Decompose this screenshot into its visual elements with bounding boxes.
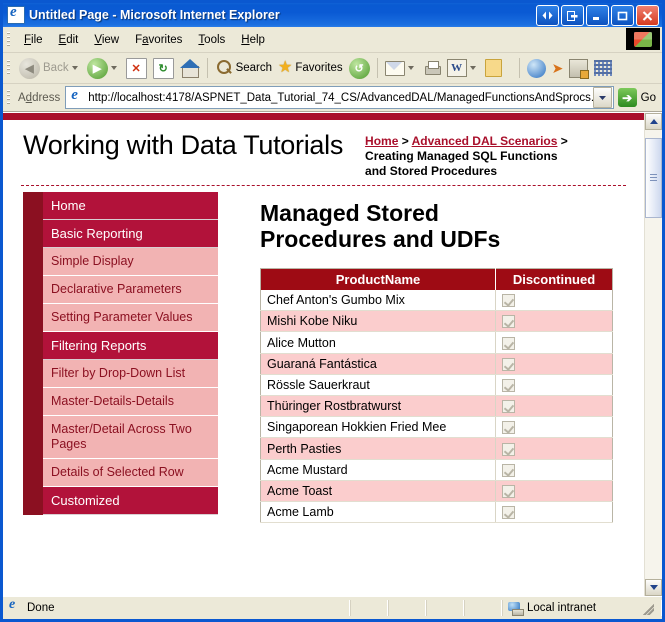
search-button[interactable]: Search: [212, 56, 275, 80]
cell-productname: Acme Lamb: [261, 502, 496, 523]
page-status-icon: [8, 601, 23, 615]
page-top-bar: [3, 113, 644, 120]
sidebar-item-master-details-details[interactable]: Master-Details-Details: [23, 388, 218, 416]
breadcrumb: Home > Advanced DAL Scenarios > Creating…: [365, 128, 580, 179]
nav-stripe: [23, 276, 43, 304]
page-viewport: Working with Data Tutorials Home > Advan…: [3, 112, 662, 596]
cell-discontinued: [496, 374, 613, 395]
nav-stripe: [23, 332, 43, 360]
table-header-row: ProductName Discontinued: [261, 269, 613, 291]
table-row[interactable]: Mishi Kobe Niku: [261, 311, 613, 332]
local-intranet-icon: [508, 601, 523, 615]
table-row[interactable]: Chef Anton's Gumbo Mix: [261, 290, 613, 311]
sidebar-item-customized[interactable]: Customized: [23, 487, 218, 515]
security-zone[interactable]: Local intranet: [502, 600, 662, 616]
checkbox-checked-disabled-icon: [502, 315, 515, 328]
mail-dropdown-caret-icon[interactable]: [408, 66, 414, 70]
table-row[interactable]: Acme Toast: [261, 480, 613, 501]
cell-productname: Thüringer Rostbratwurst: [261, 396, 496, 417]
back-icon: ◀: [19, 58, 40, 79]
edit-dropdown-caret-icon[interactable]: [470, 66, 476, 70]
cell-productname: Rössle Sauerkraut: [261, 374, 496, 395]
address-url-text: http://localhost:4178/ASPNET_Data_Tutori…: [88, 92, 592, 104]
sidebar-item-master-detail-across-two-pages[interactable]: Master/Detail Across Two Pages: [23, 416, 218, 459]
favorites-button[interactable]: ★ Favorites: [275, 56, 346, 80]
sidebar-item-label: Basic Reporting: [43, 220, 218, 248]
cell-productname: Chef Anton's Gumbo Mix: [261, 290, 496, 311]
maximize-button[interactable]: [611, 5, 634, 26]
table-row[interactable]: Thüringer Rostbratwurst: [261, 396, 613, 417]
sidebar-item-label: Filter by Drop-Down List: [43, 360, 218, 388]
status-pane-4: [464, 600, 502, 616]
cell-productname: Mishi Kobe Niku: [261, 311, 496, 332]
history-icon: ↺: [349, 58, 370, 79]
toolbar-separator-2: [377, 58, 378, 78]
notes-button[interactable]: [482, 56, 505, 80]
checkbox-checked-disabled-icon: [502, 294, 515, 307]
go-button[interactable]: ➔ Go: [614, 88, 662, 107]
sidebar-item-label: Filtering Reports: [43, 332, 218, 360]
address-dropdown-button[interactable]: [593, 87, 612, 108]
toolbar-drag-grip[interactable]: [5, 59, 13, 77]
status-pane-3: [426, 600, 464, 616]
sidebar-item-label: Master-Details-Details: [43, 388, 218, 416]
status-pane-2: [388, 600, 426, 616]
resize-grip[interactable]: [640, 601, 654, 615]
nav-stripe: [23, 220, 43, 248]
minimize-button[interactable]: [586, 5, 609, 26]
sidebar-nav: Home Basic Reporting Simple Display Decl…: [3, 192, 218, 515]
cell-discontinued: [496, 290, 613, 311]
address-label: Address: [18, 92, 60, 104]
stop-icon: ✕: [126, 58, 147, 79]
menu-view[interactable]: View: [86, 31, 127, 49]
forward-dropdown-caret-icon[interactable]: [111, 66, 117, 70]
menu-help[interactable]: Help: [233, 31, 273, 49]
edit-button[interactable]: W: [444, 56, 482, 80]
toolbar-separator-3: [519, 58, 520, 78]
encoding-icon: [594, 60, 612, 76]
favorites-star-icon: ★: [278, 60, 292, 76]
encoding-button[interactable]: [591, 56, 615, 80]
column-header-productname[interactable]: ProductName: [261, 269, 496, 291]
toolbar-separator: [207, 58, 208, 78]
column-header-discontinued[interactable]: Discontinued: [496, 269, 613, 291]
status-text: Done: [27, 602, 55, 614]
sidebar-item-filter-by-drop-down-list[interactable]: Filter by Drop-Down List: [23, 360, 218, 388]
cell-productname: Alice Mutton: [261, 332, 496, 353]
cell-productname: Singaporean Hokkien Fried Mee: [261, 417, 496, 438]
table-row[interactable]: Acme Mustard: [261, 459, 613, 480]
back-label: Back: [43, 62, 69, 74]
page-masthead: Working with Data Tutorials Home > Advan…: [3, 120, 644, 179]
sidebar-item-filtering-reports[interactable]: Filtering Reports: [23, 332, 218, 360]
checkbox-checked-disabled-icon: [502, 421, 515, 434]
nav-stripe: [23, 487, 43, 515]
page-vertical-scrollbar[interactable]: [644, 113, 662, 596]
cell-productname: Acme Toast: [261, 480, 496, 501]
main-content: Managed Stored Procedures and UDFs Produ…: [218, 186, 644, 523]
page-title: Managed Stored Procedures and UDFs: [260, 200, 520, 252]
sidebar-item-simple-display[interactable]: Simple Display: [23, 248, 218, 276]
cell-discontinued: [496, 396, 613, 417]
nav-stripe: [23, 388, 43, 416]
checkbox-checked-disabled-icon: [502, 400, 515, 413]
checkbox-checked-disabled-icon: [502, 443, 515, 456]
cell-discontinued: [496, 353, 613, 374]
cell-discontinued: [496, 480, 613, 501]
home-icon: [180, 59, 200, 77]
page-icon: [69, 90, 85, 106]
nav-stripe: [23, 192, 43, 220]
go-label: Go: [641, 92, 656, 104]
breadcrumb-sep-2: >: [557, 134, 567, 148]
products-gridview: ProductName Discontinued Chef Anton's Gu…: [260, 268, 613, 523]
checkbox-checked-disabled-icon: [502, 379, 515, 392]
back-dropdown-caret-icon[interactable]: [72, 66, 78, 70]
messenger-globe-icon: [527, 59, 546, 78]
search-label: Search: [236, 62, 272, 74]
sidebar-item-label: Simple Display: [43, 248, 218, 276]
cell-discontinued: [496, 438, 613, 459]
back-button[interactable]: ◀ Back: [16, 56, 84, 80]
cell-productname: Perth Pasties: [261, 438, 496, 459]
cell-discontinued: [496, 417, 613, 438]
menu-favorites[interactable]: Favorites: [127, 31, 190, 49]
cell-discontinued: [496, 311, 613, 332]
history-button[interactable]: ↺: [346, 56, 373, 80]
breadcrumb-current: Creating Managed SQL Functions and Store…: [365, 149, 557, 178]
tab-list-button[interactable]: [561, 5, 584, 26]
menu-edit[interactable]: Edit: [51, 31, 87, 49]
breadcrumb-home-link[interactable]: Home: [365, 134, 398, 148]
cell-discontinued: [496, 332, 613, 353]
main-toolbar: ◀ Back ▶ ✕ ↻ Search ★ Favorites ↺: [3, 53, 662, 84]
sidebar-item-label: Details of Selected Row: [43, 459, 218, 487]
windows-logo-icon: [626, 28, 660, 50]
ie-browser-window: Untitled Page - Microsoft Internet Explo…: [0, 0, 665, 622]
menu-tools[interactable]: Tools: [190, 31, 233, 49]
sidebar-item-label: Master/Detail Across Two Pages: [43, 416, 218, 459]
sidebar-item-setting-parameter-values[interactable]: Setting Parameter Values: [23, 304, 218, 332]
forward-button[interactable]: ▶: [84, 56, 123, 80]
print-button[interactable]: [420, 56, 444, 80]
go-arrow-icon: ➔: [618, 88, 637, 107]
scroll-down-button[interactable]: [645, 579, 662, 596]
menu-drag-grip[interactable]: [5, 31, 13, 49]
site-title: Working with Data Tutorials: [23, 130, 343, 161]
print-icon: [423, 61, 441, 76]
title-bar: Untitled Page - Microsoft Internet Explo…: [3, 3, 662, 27]
table-row[interactable]: Alice Mutton: [261, 332, 613, 353]
research-icon: [569, 59, 588, 78]
page-body: Home Basic Reporting Simple Display Decl…: [3, 186, 644, 523]
search-icon: [215, 59, 233, 77]
status-bar: Done Local intranet: [3, 596, 662, 619]
forward-icon: ▶: [87, 58, 108, 79]
breadcrumb-sep-1: >: [398, 134, 411, 148]
cell-discontinued: [496, 459, 613, 480]
sidebar-item-declarative-parameters[interactable]: Declarative Parameters: [23, 276, 218, 304]
status-pane-1: [350, 600, 388, 616]
address-drag-grip[interactable]: [5, 89, 13, 107]
checkbox-checked-disabled-icon: [502, 506, 515, 519]
restore-group-button[interactable]: [536, 5, 559, 26]
nav-stripe: [23, 248, 43, 276]
status-message: Done: [3, 600, 350, 616]
table-row[interactable]: Singaporean Hokkien Fried Mee: [261, 417, 613, 438]
web-page: Working with Data Tutorials Home > Advan…: [3, 113, 644, 596]
favorites-label: Favorites: [295, 62, 342, 74]
table-row[interactable]: Rössle Sauerkraut: [261, 374, 613, 395]
window-controls: [536, 5, 659, 26]
table-row[interactable]: Guaraná Fantástica: [261, 353, 613, 374]
msn-button[interactable]: ➤: [549, 56, 567, 80]
nav-stripe: [23, 360, 43, 388]
home-button[interactable]: [177, 56, 203, 80]
nav-stripe: [23, 459, 43, 487]
sidebar-item-label: Home: [43, 192, 218, 220]
sidebar-item-details-of-selected-row[interactable]: Details of Selected Row: [23, 459, 218, 487]
security-zone-text: Local intranet: [527, 602, 596, 614]
ie-page-icon: [7, 6, 25, 24]
menu-bar: File Edit View Favorites Tools Help: [3, 27, 662, 53]
cell-productname: Acme Mustard: [261, 459, 496, 480]
scrollbar-thumb[interactable]: [645, 138, 662, 218]
checkbox-checked-disabled-icon: [502, 464, 515, 477]
table-row[interactable]: Perth Pasties: [261, 438, 613, 459]
research-button[interactable]: [566, 56, 591, 80]
breadcrumb-section-link[interactable]: Advanced DAL Scenarios: [412, 134, 558, 148]
msn-icon: ➤: [552, 61, 564, 75]
stop-button[interactable]: ✕: [123, 56, 150, 80]
refresh-icon: ↻: [153, 58, 174, 79]
scrollbar-track[interactable]: [645, 130, 662, 579]
window-title: Untitled Page - Microsoft Internet Explo…: [29, 8, 280, 22]
cell-productname: Guaraná Fantástica: [261, 353, 496, 374]
sidebar-item-basic-reporting[interactable]: Basic Reporting: [23, 220, 218, 248]
mail-icon: [385, 61, 405, 76]
checkbox-checked-disabled-icon: [502, 358, 515, 371]
refresh-button[interactable]: ↻: [150, 56, 177, 80]
sidebar-item-label: Customized: [43, 487, 218, 515]
cell-discontinued: [496, 502, 613, 523]
sidebar-item-label: Declarative Parameters: [43, 276, 218, 304]
menu-file[interactable]: File: [16, 31, 51, 49]
mail-button[interactable]: [382, 56, 420, 80]
sidebar-item-label: Setting Parameter Values: [43, 304, 218, 332]
nav-stripe: [23, 304, 43, 332]
messenger-button[interactable]: [524, 56, 549, 80]
edit-word-icon: W: [447, 59, 467, 77]
table-row[interactable]: Acme Lamb: [261, 502, 613, 523]
checkbox-checked-disabled-icon: [502, 337, 515, 350]
address-input[interactable]: http://localhost:4178/ASPNET_Data_Tutori…: [65, 86, 613, 109]
notes-icon: [485, 59, 502, 77]
sidebar-item-home[interactable]: Home: [23, 192, 218, 220]
scroll-up-button[interactable]: [645, 113, 662, 130]
close-button[interactable]: [636, 5, 659, 26]
address-bar: Address http://localhost:4178/ASPNET_Dat…: [3, 84, 662, 112]
checkbox-checked-disabled-icon: [502, 485, 515, 498]
table-body: Chef Anton's Gumbo Mix Mishi Kobe Niku A…: [261, 290, 613, 523]
nav-stripe: [23, 416, 43, 459]
